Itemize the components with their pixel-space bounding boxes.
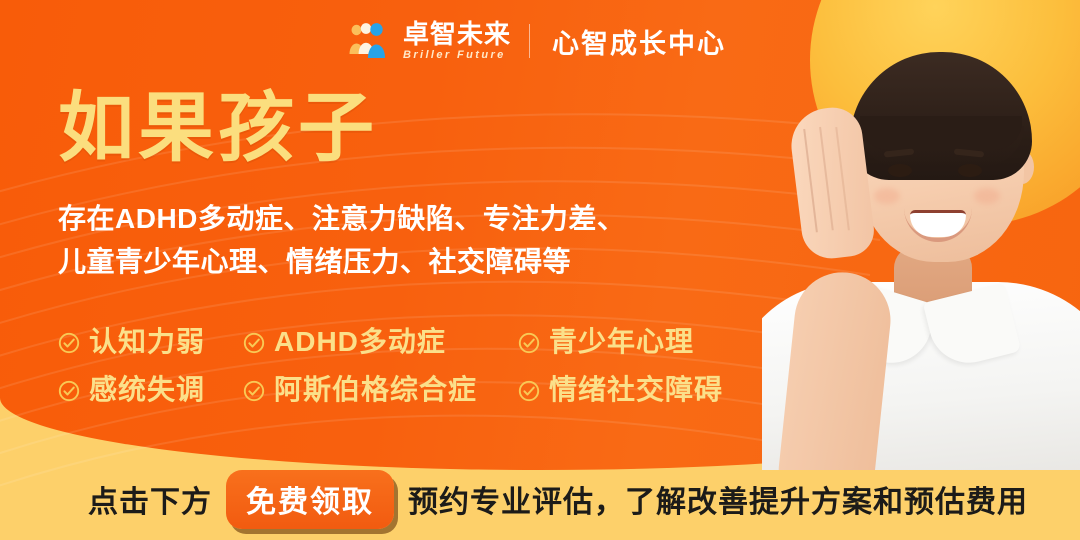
- circle-check-icon: [243, 377, 265, 399]
- tag-row-2: 感统失调 阿斯伯格综合症: [58, 368, 723, 408]
- tag-label: ADHD多动症: [274, 320, 446, 360]
- tag-row-1: 认知力弱 ADHD多动症: [58, 320, 723, 360]
- brand-logo-lockup[interactable]: 卓智未来 Briller Future 心智成长中心: [347, 17, 726, 65]
- boy-cheek-right: [974, 188, 1000, 204]
- tag-label: 认知力弱: [89, 320, 205, 360]
- circle-check-icon: [518, 329, 540, 351]
- tag-label: 感统失调: [89, 368, 205, 408]
- tag-label: 阿斯伯格综合症: [274, 368, 477, 408]
- tag-item: 阿斯伯格综合症: [243, 368, 518, 408]
- tag-item: 青少年心理: [518, 320, 694, 360]
- brand-sub-name: 心智成长中心: [552, 22, 726, 61]
- circle-check-icon: [243, 329, 265, 351]
- circle-check-icon: [518, 377, 540, 399]
- circle-check-icon: [58, 329, 80, 351]
- cta-lead-text: 点击下方: [88, 477, 212, 521]
- tag-label: 情绪社交障碍: [549, 368, 723, 408]
- brand-name-en: Briller Future: [403, 50, 511, 61]
- logo-divider: [529, 24, 530, 58]
- tag-item: 情绪社交障碍: [518, 368, 723, 408]
- smiling-boy-photo: [762, 0, 1080, 470]
- hero-subcopy-line-2: 儿童青少年心理、情绪压力、社交障碍等: [58, 241, 625, 284]
- symptom-tag-list: 认知力弱 ADHD多动症: [58, 320, 723, 408]
- tag-item: 认知力弱: [58, 320, 243, 360]
- boy-eye-left: [888, 164, 912, 177]
- page-title: 如果孩子: [58, 91, 378, 167]
- brand-name-cn: 卓智未来: [403, 21, 511, 47]
- boy-cheek-left: [874, 188, 900, 204]
- tag-item: ADHD多动症: [243, 320, 518, 360]
- boy-fringe: [860, 116, 1022, 150]
- tag-item: 感统失调: [58, 368, 243, 408]
- hero-panel: 卓智未来 Briller Future 心智成长中心 如果孩子 存在ADHD多动…: [0, 0, 1080, 470]
- boy-eye-right: [958, 164, 982, 177]
- tag-label: 青少年心理: [549, 320, 694, 360]
- brand-name-block: 卓智未来 Briller Future: [403, 21, 511, 61]
- hero-subcopy: 存在ADHD多动症、注意力缺陷、专注力差、 儿童青少年心理、情绪压力、社交障碍等: [58, 198, 625, 283]
- hero-subcopy-line-1: 存在ADHD多动症、注意力缺陷、专注力差、: [58, 198, 625, 241]
- cta-band: 点击下方 免费领取 预约专业评估，了解改善提升方案和预估费用: [0, 444, 1080, 540]
- free-claim-button[interactable]: 免费领取: [226, 470, 394, 529]
- cta-tail-text: 预约专业评估，了解改善提升方案和预估费用: [408, 477, 1028, 521]
- cta-content: 点击下方 免费领取 预约专业评估，了解改善提升方案和预估费用: [88, 470, 1028, 529]
- three-people-icon: [347, 21, 391, 61]
- circle-check-icon: [58, 377, 80, 399]
- promo-banner: 卓智未来 Briller Future 心智成长中心 如果孩子 存在ADHD多动…: [0, 0, 1080, 540]
